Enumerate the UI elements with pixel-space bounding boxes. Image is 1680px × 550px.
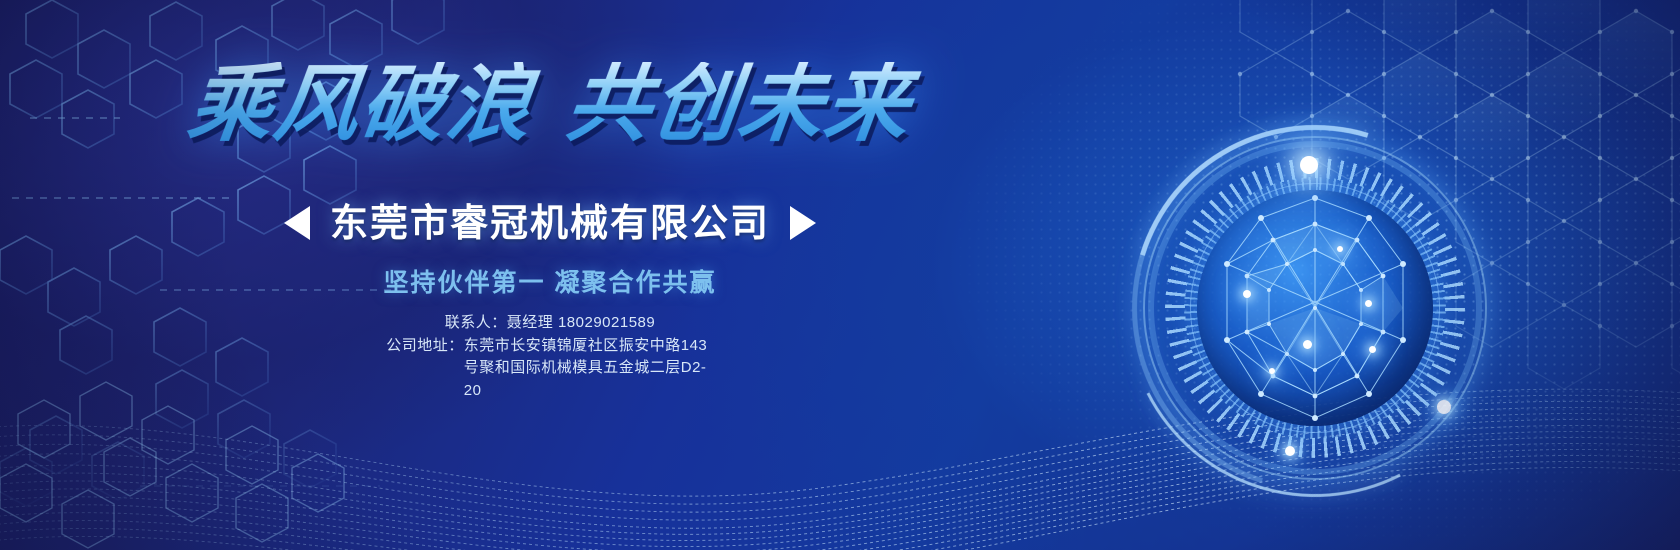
headline-part-2: 共创未来 xyxy=(561,57,917,151)
globe-bottom-highlight xyxy=(1285,446,1295,456)
globe-node-glow xyxy=(1303,340,1312,349)
globe-node-glow xyxy=(1365,300,1372,307)
address-value: 东莞市长安镇锦厦社区振安中路143号聚和国际机械模具五金城二层D2-20 xyxy=(464,335,714,403)
right-triangle-icon xyxy=(790,206,816,240)
promo-banner: 乘风破浪共创未来 东莞市睿冠机械有限公司 坚持伙伴第一 凝聚合作共赢 联系人：聂… xyxy=(0,0,1680,550)
globe-node-glow xyxy=(1337,246,1343,252)
company-slogan: 坚持伙伴第一 凝聚合作共赢 xyxy=(60,263,1040,299)
tech-globe-graphic xyxy=(1145,138,1485,478)
globe-node-glow xyxy=(1243,290,1251,298)
globe-sphere xyxy=(1197,190,1433,426)
company-name: 东莞市睿冠机械有限公司 xyxy=(330,203,770,245)
address-label: 公司地址： xyxy=(386,335,464,403)
contact-line: 联系人：聂经理 18029021589 xyxy=(60,312,1040,335)
globe-top-highlight xyxy=(1300,156,1318,174)
globe-side-highlight xyxy=(1437,400,1451,414)
left-triangle-icon xyxy=(284,206,310,240)
banner-text-block: 乘风破浪共创未来 东莞市睿冠机械有限公司 坚持伙伴第一 凝聚合作共赢 联系人：聂… xyxy=(0,0,1100,550)
address-line: 公司地址： 东莞市长安镇锦厦社区振安中路143号聚和国际机械模具五金城二层D2-… xyxy=(60,335,1040,403)
page-title: 乘风破浪共创未来 xyxy=(55,62,1045,146)
globe-node-glow xyxy=(1269,368,1275,374)
contact-block: 联系人：聂经理 18029021589 公司地址： 东莞市长安镇锦厦社区振安中路… xyxy=(60,312,1040,402)
company-name-row: 东莞市睿冠机械有限公司 xyxy=(60,192,1040,247)
globe-node-glow xyxy=(1369,346,1376,353)
headline-part-1: 乘风破浪 xyxy=(183,57,539,151)
